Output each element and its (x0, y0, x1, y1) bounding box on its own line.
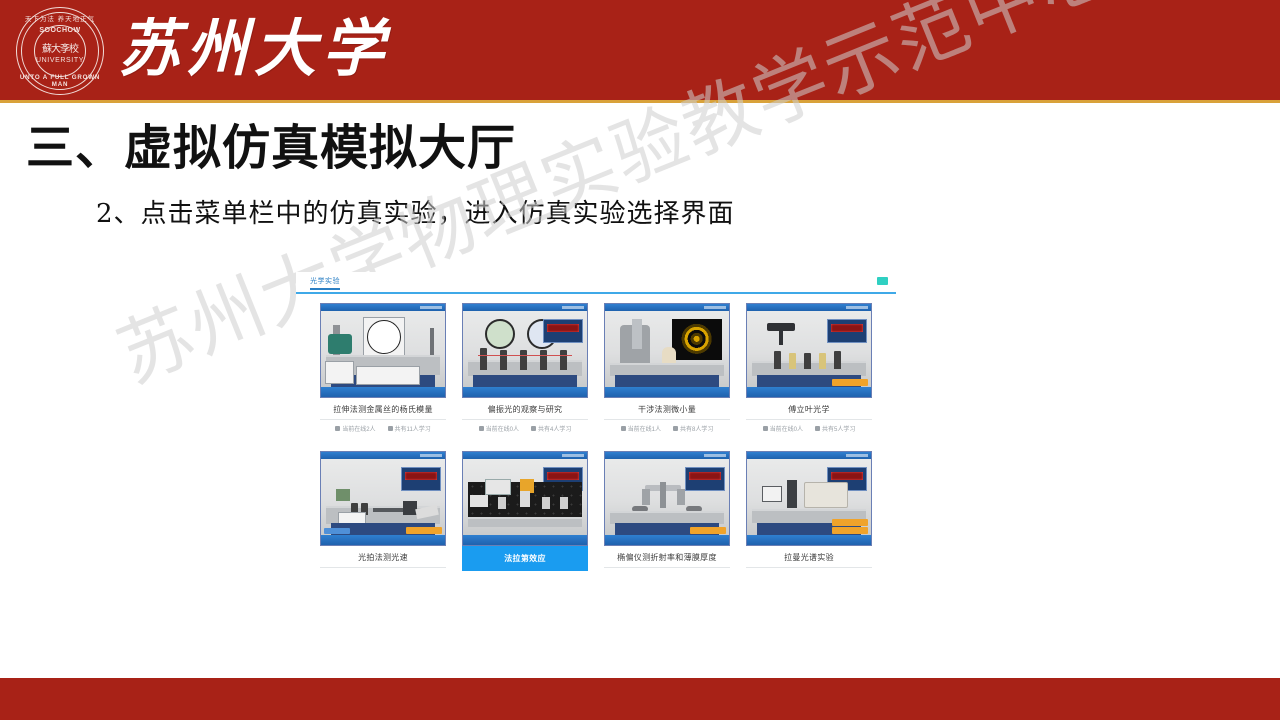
experiment-row: 光拍法测光速 当前在线0人 共有3人学习 (296, 433, 896, 581)
experiment-card[interactable]: 傅立叶光学 当前在线0人 共有5人学习 (746, 303, 872, 433)
experiment-thumbnail[interactable] (604, 451, 730, 546)
bottom-bar (0, 678, 1280, 720)
experiment-meta: 当前在线1人 共有8人学习 (604, 420, 730, 433)
user-icon (479, 426, 484, 431)
learner-count: 共有11人学习 (395, 424, 431, 433)
learner-count: 共有4人学习 (538, 424, 571, 433)
experiment-thumbnail[interactable] (746, 451, 872, 546)
seal-top-text: 天下为法 养天地正气 (14, 13, 106, 23)
experiment-card[interactable]: 偏振光的观察与研究 当前在线0人 共有4人学习 (462, 303, 588, 433)
experiment-thumbnail[interactable] (320, 451, 446, 546)
experiment-thumbnail[interactable] (320, 303, 446, 398)
experiment-meta: 当前在线0人 共有5人学习 (746, 420, 872, 433)
experiment-title: 椭偏仪测折射率和薄膜厚度 (604, 546, 730, 568)
online-count: 当前在线2人 (342, 424, 375, 433)
experiment-thumbnail[interactable] (462, 451, 588, 546)
experiment-title: 傅立叶光学 (746, 398, 872, 420)
experiment-title: 拉伸法测金属丝的杨氏模量 (320, 398, 446, 420)
experiment-meta: 当前在线2人 共有11人学习 (320, 420, 446, 433)
experiment-title: 法拉第效应 (462, 546, 588, 571)
experiment-card[interactable]: 椭偏仪测折射率和薄膜厚度 当前在线0人 共有2人学习 (604, 451, 730, 581)
study-icon (388, 426, 393, 431)
experiment-card[interactable]: 拉曼光谱实验 当前在线0人 共有1人学习 (746, 451, 872, 581)
online-count: 当前在线1人 (628, 424, 661, 433)
tab-optics-experiments[interactable]: 光学实验 (310, 276, 340, 290)
online-count: 当前在线0人 (770, 424, 803, 433)
experiment-card[interactable]: 干涉法测微小量 当前在线1人 共有8人学习 (604, 303, 730, 433)
study-icon (531, 426, 536, 431)
study-icon (673, 426, 678, 431)
experiment-grid: 拉伸法测金属丝的杨氏模量 当前在线2人 共有11人学习 (296, 298, 896, 581)
top-banner: 天下为法 养天地正气 SOOCHOW 蘇大斈校 UNIVERSITY UNTO … (0, 0, 1280, 100)
experiment-meta: 当前在线0人 共有4人学习 (462, 420, 588, 433)
experiment-title: 偏振光的观察与研究 (462, 398, 588, 420)
seal-university-text: UNIVERSITY (14, 57, 106, 64)
experiment-title: 干涉法测微小量 (604, 398, 730, 420)
slide: 天下为法 养天地正气 SOOCHOW 蘇大斈校 UNIVERSITY UNTO … (0, 0, 1280, 720)
experiment-row: 拉伸法测金属丝的杨氏模量 当前在线2人 共有11人学习 (296, 298, 896, 433)
status-badge-icon[interactable] (877, 277, 888, 285)
online-count: 当前在线0人 (486, 424, 519, 433)
study-icon (815, 426, 820, 431)
learner-count: 共有8人学习 (680, 424, 713, 433)
user-icon (621, 426, 626, 431)
experiment-title: 光拍法测光速 (320, 546, 446, 568)
experiment-thumbnail[interactable] (604, 303, 730, 398)
seal-mid-text: SOOCHOW (14, 27, 106, 34)
university-seal-icon: 天下为法 养天地正气 SOOCHOW 蘇大斈校 UNIVERSITY UNTO … (14, 5, 106, 97)
page-subtitle: 2、点击菜单栏中的仿真实验，进入仿真实验选择界面 (96, 193, 735, 230)
experiment-card[interactable]: 拉伸法测金属丝的杨氏模量 当前在线2人 共有11人学习 (320, 303, 446, 433)
experiment-thumbnail[interactable] (462, 303, 588, 398)
experiment-card[interactable]: 光拍法测光速 当前在线0人 共有3人学习 (320, 451, 446, 581)
experiment-card-selected[interactable]: 法拉第效应 当前在线0人 共有2人学习 (462, 451, 588, 581)
page-title: 三、虚拟仿真模拟大厅 (26, 108, 516, 178)
seal-motto-text: UNTO A FULL GROWN MAN (14, 74, 106, 88)
learner-count: 共有5人学习 (822, 424, 855, 433)
user-icon (763, 426, 768, 431)
experiment-thumbnail[interactable] (746, 303, 872, 398)
user-icon (335, 426, 340, 431)
experiment-title: 拉曼光谱实验 (746, 546, 872, 568)
banner-underline (0, 100, 1280, 103)
embedded-app-screenshot: 光学实验 (296, 272, 896, 592)
app-tabbar: 光学实验 (296, 272, 896, 294)
university-name: 苏州大学 (118, 4, 390, 96)
